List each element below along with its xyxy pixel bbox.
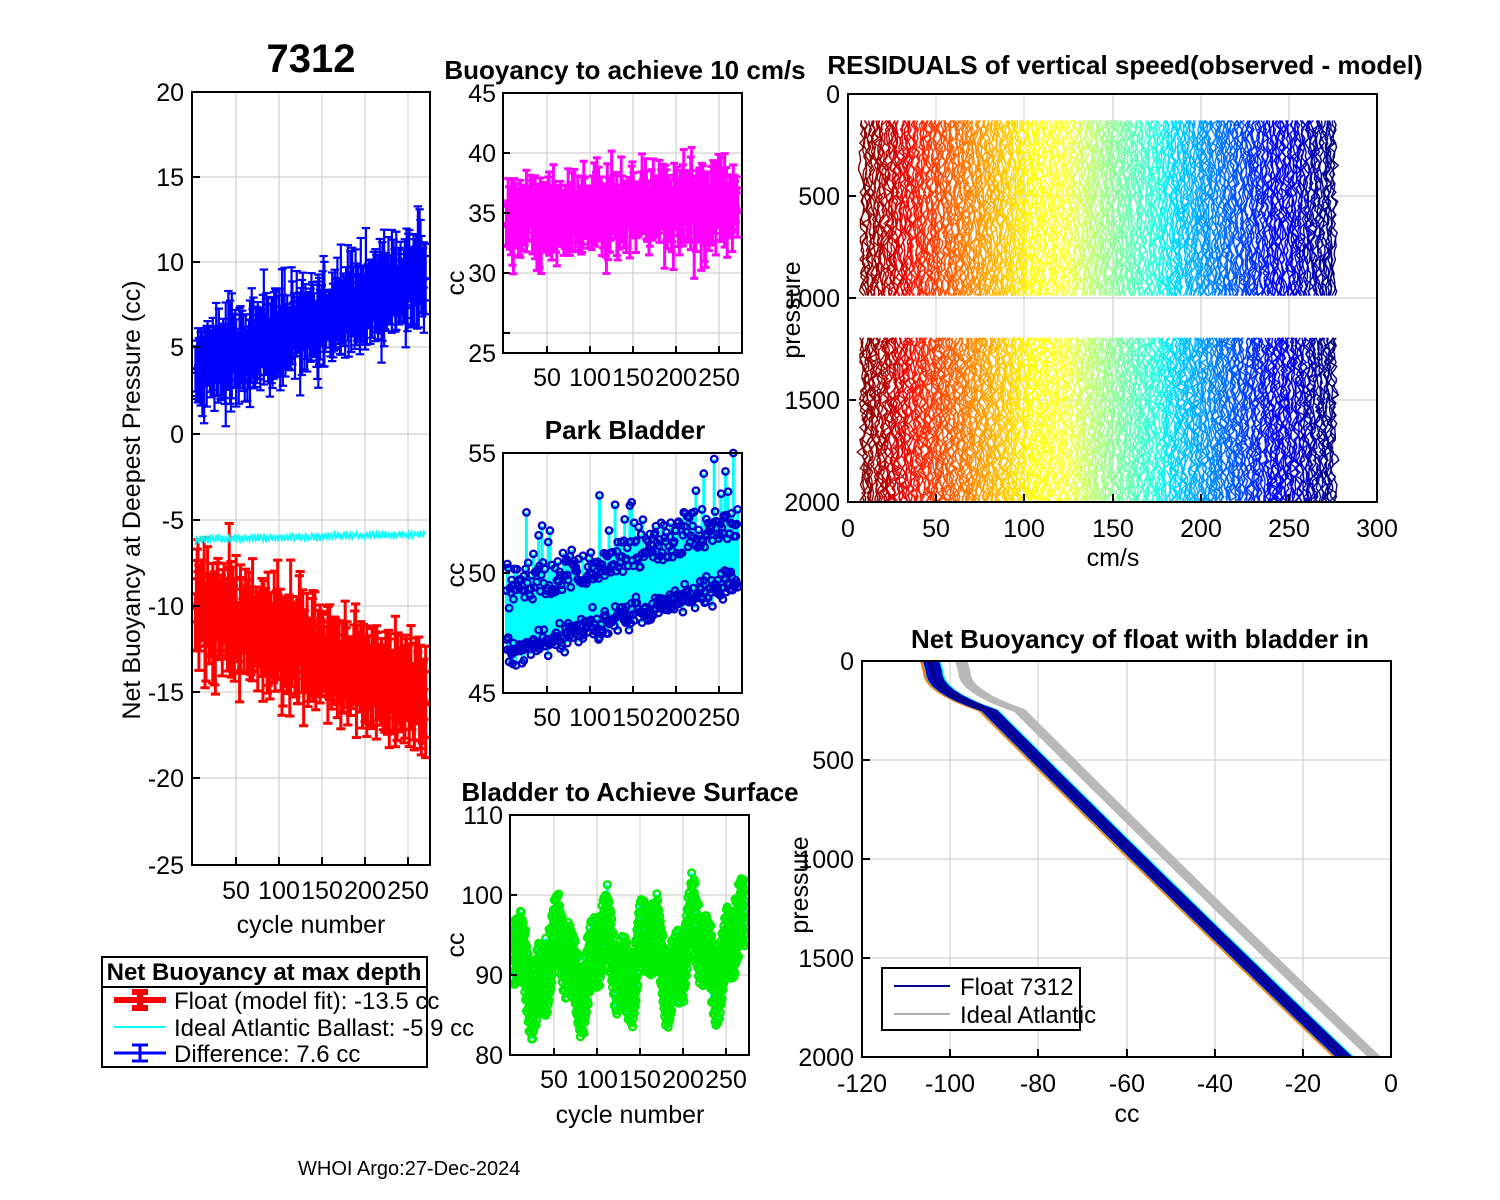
xtick-50: 50: [922, 515, 950, 543]
ytick-0: 0: [170, 421, 184, 449]
plot-area-park-bladder: 55 50 45 50 100 150 200 250: [468, 440, 742, 732]
xtick-100: 100: [1003, 515, 1045, 543]
footer-credit: WHOI Argo:27-Dec-2024: [298, 1158, 520, 1181]
y-axis-label-cc: cc: [442, 933, 470, 958]
series-float-model-fit: [191, 524, 430, 758]
xtick-150: 150: [612, 364, 654, 392]
plot-area-residuals: 0 500 1000 1500 2000 0 50 100 150 200 25…: [784, 81, 1397, 572]
xtick-300: 300: [1356, 515, 1398, 543]
ytick-30: 30: [468, 260, 496, 288]
ytick-90: 90: [475, 962, 503, 990]
ytick-2000: 2000: [798, 1044, 854, 1072]
ytick-0: 0: [840, 648, 854, 676]
y-axis-label-cc: cc: [442, 563, 470, 588]
xtick-100: 100: [569, 364, 611, 392]
plot-area-net-buoyancy: 20 15 10 5 0 -5 -10 -15 -20 -25 50 100 1…: [148, 79, 430, 939]
legend-bladder-in: Float 7312 Ideal Atlantic: [882, 968, 1096, 1030]
ytick-500: 500: [812, 747, 854, 775]
ytick-0: 0: [826, 81, 840, 109]
x-axis-label: cm/s: [1087, 544, 1140, 572]
ytick-45: 45: [468, 680, 496, 708]
ytick-1500: 1500: [784, 387, 840, 415]
panel-net-buoyancy-bladder-in: Net Buoyancy of float with bladder in pr…: [770, 620, 1450, 1140]
xtick-m120: -120: [837, 1070, 887, 1098]
panel-residuals: RESIDUALS of vertical speed(observed - m…: [770, 50, 1450, 570]
y-axis-label-cc: cc: [442, 271, 470, 296]
ytick-m25: -25: [148, 852, 184, 880]
panel-bladder-surface: Bladder to Achieve Surface cc: [440, 775, 780, 1135]
xtick-250: 250: [705, 1066, 747, 1094]
ytick-55: 55: [468, 440, 496, 468]
ytick-50: 50: [468, 560, 496, 588]
chart-title-bladder-in: Net Buoyancy of float with bladder in: [911, 624, 1369, 654]
xtick-200: 200: [655, 364, 697, 392]
xtick-0: 0: [1384, 1070, 1398, 1098]
ytick-25: 25: [468, 340, 496, 368]
ytick-35: 35: [468, 200, 496, 228]
ytick-110: 110: [463, 802, 503, 830]
ytick-5: 5: [170, 334, 184, 362]
panel-buoyancy-10cms: Buoyancy to achieve 10 cm/s cc: [440, 55, 770, 400]
legend-label-ideal: Ideal Atlantic Ballast: -5.9 cc: [174, 1015, 474, 1042]
xtick-250: 250: [387, 877, 429, 905]
xtick-50: 50: [533, 704, 561, 732]
xtick-200: 200: [655, 704, 697, 732]
xtick-100: 100: [576, 1066, 618, 1094]
panel-net-buoyancy-deepest: 7312 Net Buoyancy at Deepest Pressure (c…: [0, 0, 460, 1110]
ytick-500: 500: [798, 183, 840, 211]
xtick-50: 50: [222, 877, 250, 905]
xtick-150: 150: [612, 704, 654, 732]
xtick-200: 200: [344, 877, 386, 905]
legend-label-difference: Difference: 7.6 cc: [174, 1041, 360, 1068]
xtick-250: 250: [698, 704, 740, 732]
ytick-m15: -15: [148, 679, 184, 707]
ytick-20: 20: [156, 79, 184, 107]
chart-title-float-id: 7312: [267, 37, 356, 81]
ytick-1000: 1000: [798, 846, 854, 874]
x-axis-label: cycle number: [237, 911, 386, 939]
legend-net-buoyancy: Net Buoyancy at max depth Float (model f…: [102, 957, 474, 1068]
xtick-m40: -40: [1197, 1070, 1233, 1098]
xtick-m100: -100: [925, 1070, 975, 1098]
ytick-m5: -5: [162, 507, 184, 535]
ytick-1500: 1500: [798, 945, 854, 973]
xtick-50: 50: [533, 364, 561, 392]
chart-title-bladder-surface: Bladder to Achieve Surface: [461, 777, 798, 807]
legend-title: Net Buoyancy at max depth: [107, 959, 422, 986]
xtick-0: 0: [841, 515, 855, 543]
x-axis-label: cycle number: [556, 1101, 705, 1129]
ytick-m10: -10: [148, 593, 184, 621]
xtick-100: 100: [569, 704, 611, 732]
legend-label-ideal-atlantic: Ideal Atlantic: [960, 1002, 1096, 1029]
ytick-m20: -20: [148, 765, 184, 793]
ytick-40: 40: [468, 140, 496, 168]
plot-area-bladder-in: 0 500 1000 1500 2000 -120 -100 -80 -60 -…: [798, 648, 1398, 1128]
legend-label-float: Float (model fit): -13.5 cc: [174, 988, 439, 1015]
xtick-m60: -60: [1109, 1070, 1145, 1098]
plot-area-bladder-surface: 110 100 90 80 50 100 150 200 250 cycle n…: [461, 802, 749, 1129]
ytick-45: 45: [468, 80, 496, 108]
ytick-15: 15: [156, 164, 184, 192]
xtick-100: 100: [258, 877, 300, 905]
series-residual-profiles: [857, 121, 1339, 502]
xtick-50: 50: [540, 1066, 568, 1094]
series-difference: [191, 206, 430, 426]
x-axis-label: cc: [1115, 1100, 1140, 1128]
xtick-200: 200: [662, 1066, 704, 1094]
xtick-m20: -20: [1285, 1070, 1321, 1098]
xtick-200: 200: [1180, 515, 1222, 543]
ytick-2000: 2000: [784, 489, 840, 517]
xtick-150: 150: [619, 1066, 661, 1094]
y-axis-label: Net Buoyancy at Deepest Pressure (cc): [118, 280, 146, 719]
chart-title-buoyancy10: Buoyancy to achieve 10 cm/s: [444, 55, 805, 85]
ytick-80: 80: [475, 1042, 503, 1070]
panel-park-bladder: Park Bladder cc 55 50: [440, 415, 770, 775]
xtick-250: 250: [1268, 515, 1310, 543]
ytick-10: 10: [156, 249, 184, 277]
ytick-100: 100: [461, 882, 503, 910]
ytick-1000: 1000: [784, 285, 840, 313]
legend-label-float-7312: Float 7312: [960, 974, 1073, 1001]
chart-title-residuals: RESIDUALS of vertical speed(observed - m…: [827, 50, 1422, 80]
plot-area-buoyancy10: 45 40 35 30 25 50 100 150 200 250: [468, 80, 742, 392]
chart-title-park-bladder: Park Bladder: [545, 415, 705, 445]
xtick-250: 250: [698, 364, 740, 392]
xtick-m80: -80: [1020, 1070, 1056, 1098]
series-buoyancy-errorbars: [502, 148, 741, 279]
xtick-150: 150: [301, 877, 343, 905]
xtick-150: 150: [1092, 515, 1134, 543]
